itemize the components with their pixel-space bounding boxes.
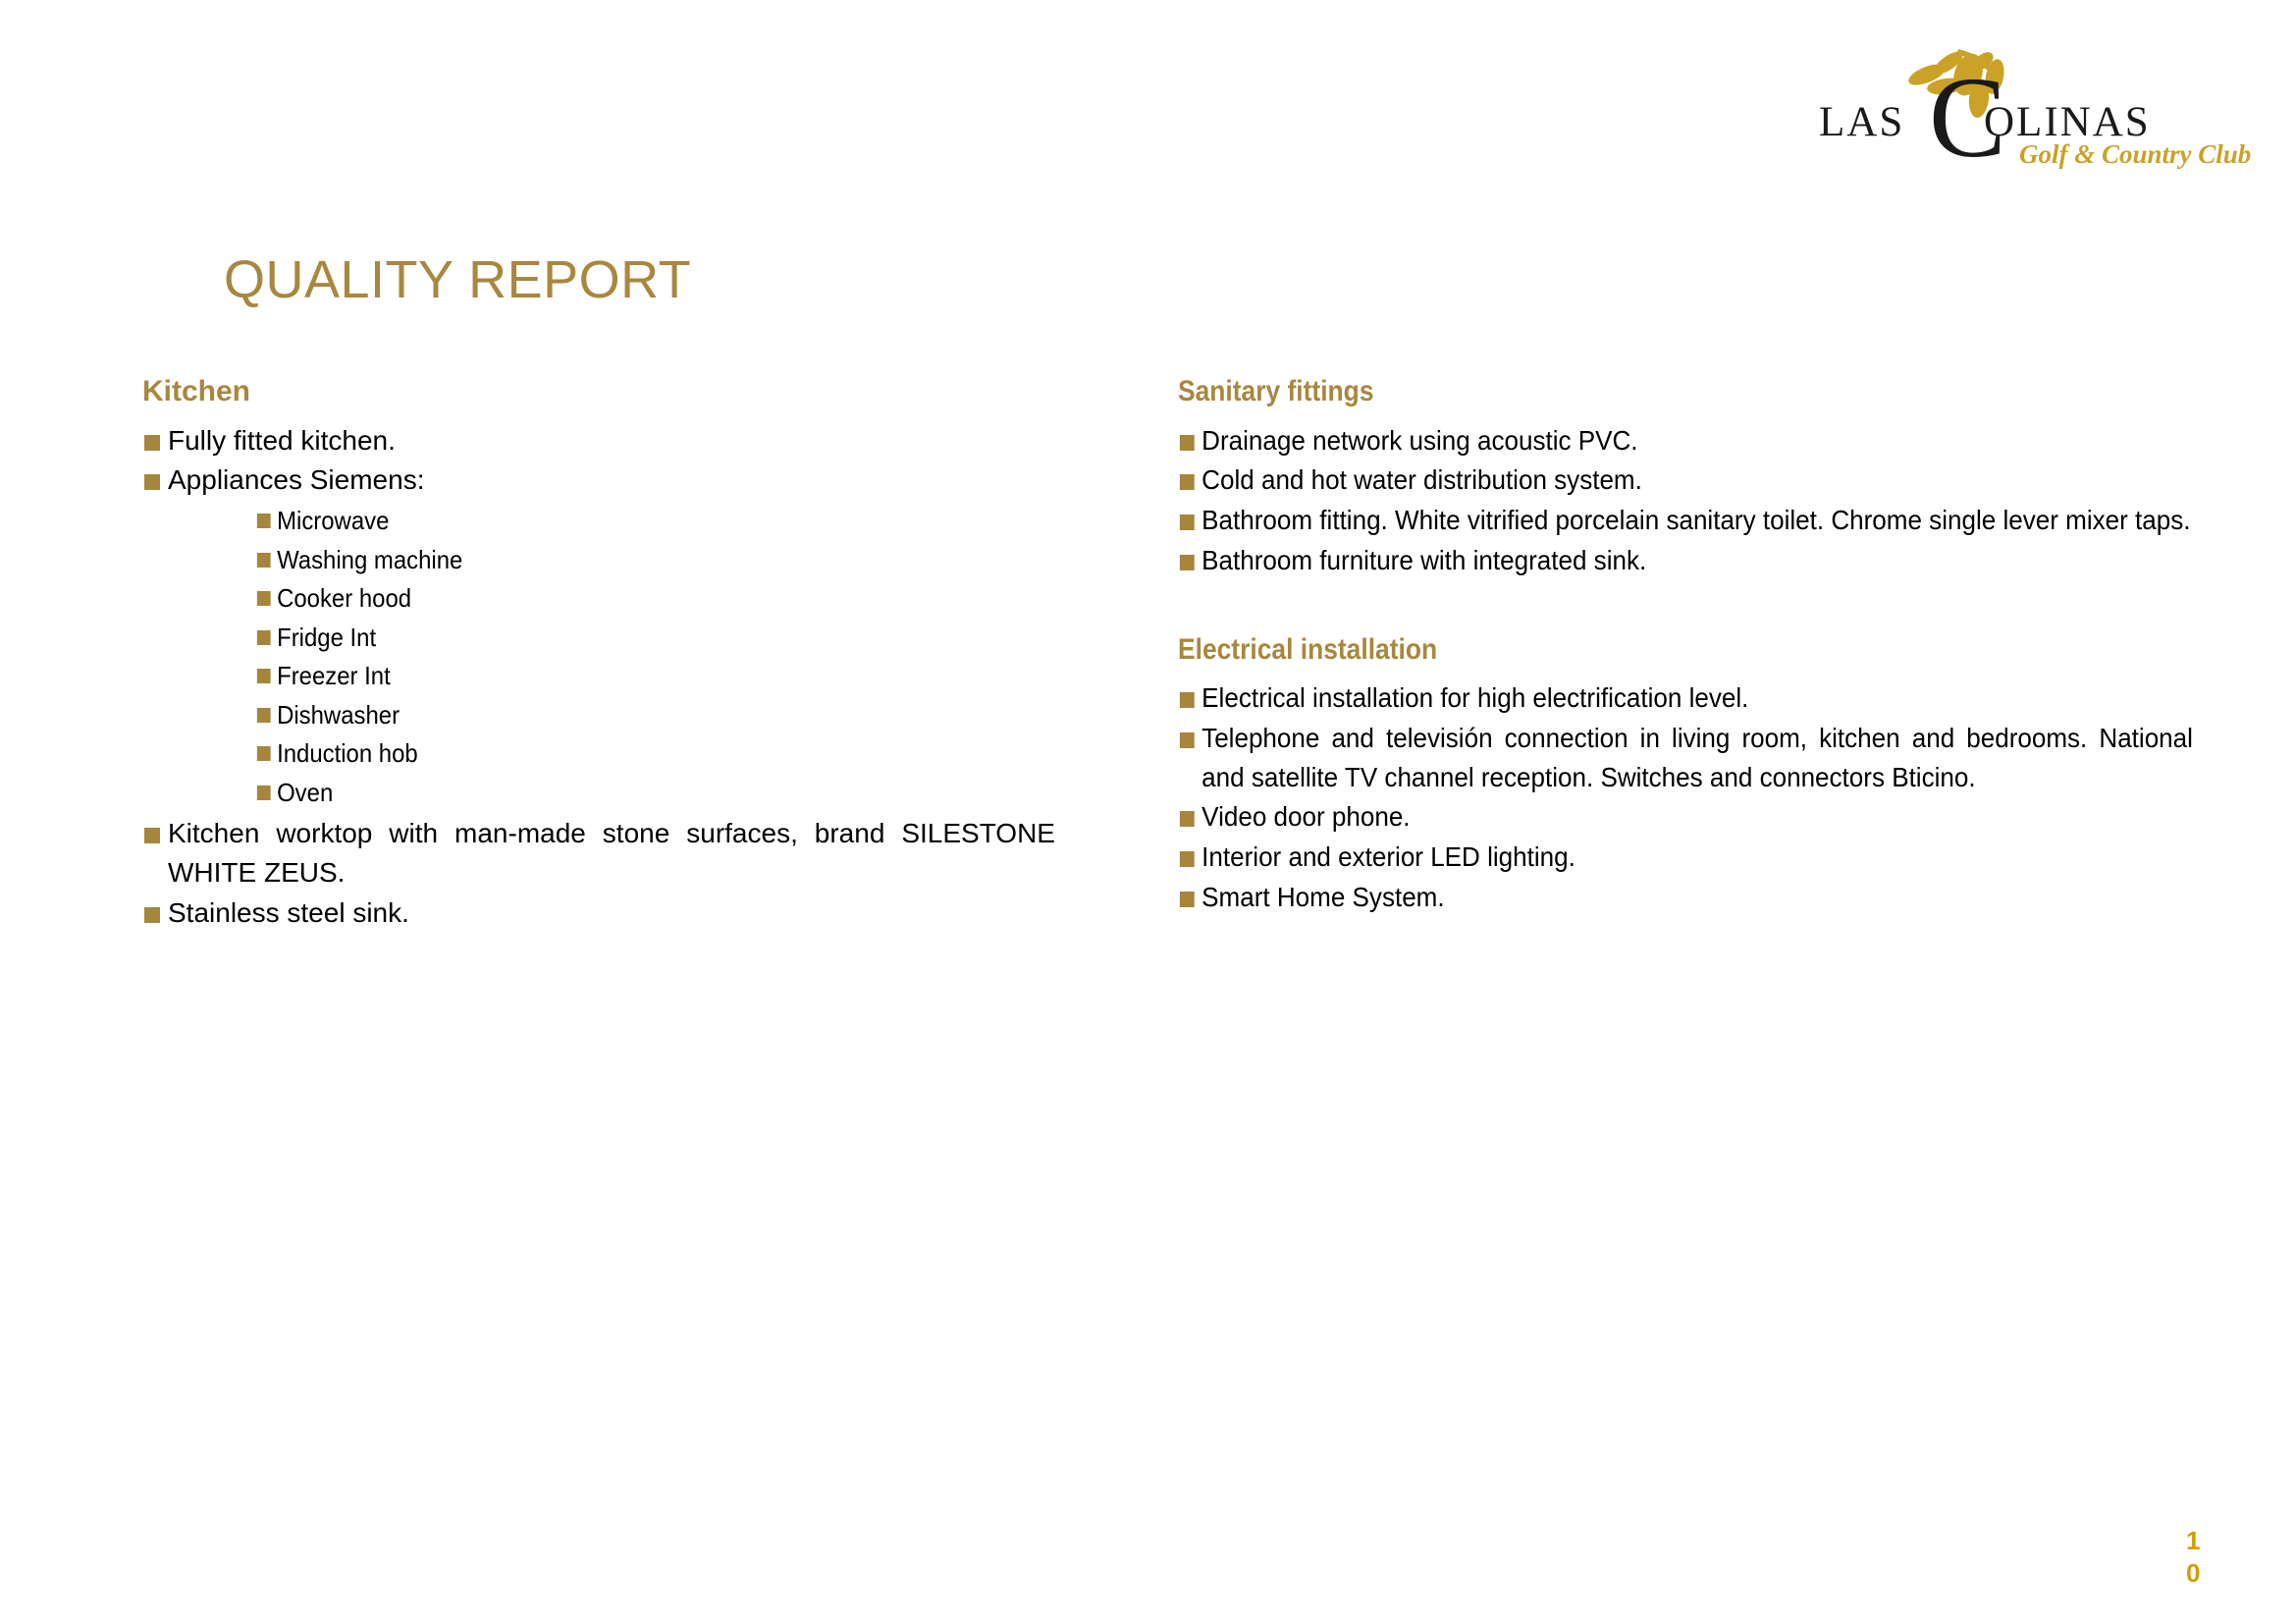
document-page: C LAS OLINAS Golf & Country Club QUALITY… <box>0 0 2296 1624</box>
list-item: Bathroom fitting. White vitrified porcel… <box>1178 501 2193 540</box>
las-colinas-logo: C LAS OLINAS Golf & Country Club <box>1811 26 2263 173</box>
left-column: Kitchen Fully fitted kitchen. Appliances… <box>142 375 1055 933</box>
sub-list-item: Fridge Int <box>255 619 991 658</box>
list-item: Interior and exterior LED lighting. <box>1178 838 2193 877</box>
list-item: Stainless steel sink. <box>142 893 1055 933</box>
page-number-digit-1: 1 <box>2186 1525 2225 1557</box>
sub-list-item: Oven <box>255 774 991 813</box>
section-heading-sanitary-fittings: Sanitary fittings <box>1178 375 2051 409</box>
list-item: Electrical installation for high electri… <box>1178 678 2193 718</box>
section-electrical-installation: Electrical installation Electrical insta… <box>1178 633 2169 917</box>
list-item: Cold and hot water distribution system. <box>1178 460 2193 500</box>
sub-list-item: Freezer Int <box>255 657 991 696</box>
sub-list-item: Cooker hood <box>255 579 991 619</box>
page-title: QUALITY REPORT <box>224 249 691 310</box>
sub-list-item: Dishwasher <box>255 696 991 735</box>
list-item: Kitchen worktop with man-made stone surf… <box>142 814 1055 893</box>
electrical-installation-list: Electrical installation for high electri… <box>1178 678 2169 917</box>
logo-word-olinas: OLINAS <box>1984 99 2151 145</box>
list-item: Appliances Siemens: <box>142 460 1055 500</box>
kitchen-appliances-sublist: Microwave Washing machine Cooker hood Fr… <box>142 502 1055 812</box>
section-heading-kitchen: Kitchen <box>142 375 1055 409</box>
list-item: Smart Home System. <box>1178 878 2193 917</box>
sub-list-item: Induction hob <box>255 734 991 774</box>
section-heading-electrical-installation: Electrical installation <box>1178 633 2051 668</box>
right-column: Sanitary fittings Drainage network using… <box>1178 375 2169 918</box>
page-number-digit-2: 0 <box>2186 1557 2225 1590</box>
sub-list-item: Microwave <box>255 502 991 541</box>
list-item: Telephone and televisión connection in l… <box>1178 719 2193 797</box>
logo-tagline: Golf & Country Club <box>2019 139 2251 169</box>
sub-list-item: Washing machine <box>255 541 991 580</box>
list-item: Video door phone. <box>1178 797 2193 837</box>
list-item: Drainage network using acoustic PVC. <box>1178 421 2193 460</box>
logo-word-las: LAS <box>1819 99 1904 145</box>
list-item: Fully fitted kitchen. <box>142 421 1055 460</box>
list-item: Bathroom furniture with integrated sink. <box>1178 541 2193 580</box>
section-kitchen: Kitchen Fully fitted kitchen. Appliances… <box>142 375 1055 932</box>
section-sanitary-fittings: Sanitary fittings Drainage network using… <box>1178 375 2169 580</box>
sanitary-fittings-list: Drainage network using acoustic PVC. Col… <box>1178 421 2169 580</box>
kitchen-list: Fully fitted kitchen. Appliances Siemens… <box>142 421 1055 501</box>
page-number: 1 0 <box>2186 1525 2225 1589</box>
kitchen-list-continued: Kitchen worktop with man-made stone surf… <box>142 814 1055 932</box>
